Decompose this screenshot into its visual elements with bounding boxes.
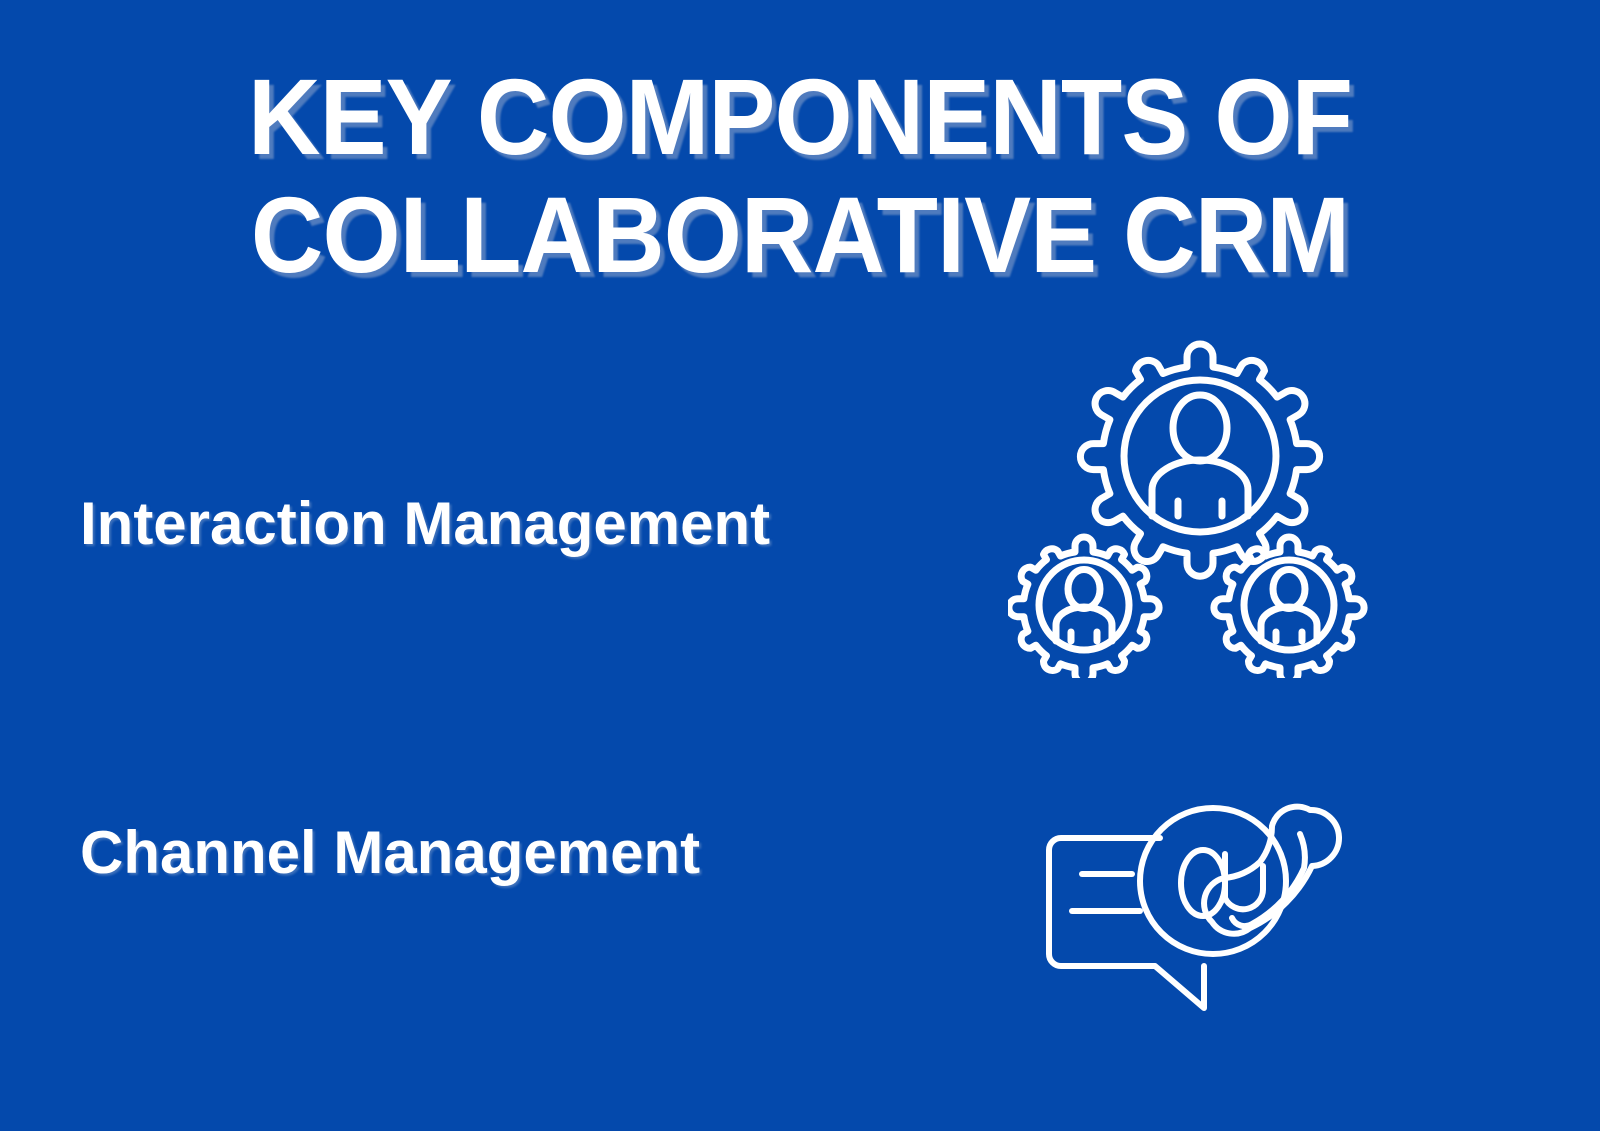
slide-canvas: KEY COMPONENTS OF COLLABORATIVE CRM Inte… bbox=[0, 0, 1600, 1131]
gears-with-people-icon bbox=[1008, 338, 1368, 678]
gear-small-right bbox=[1214, 537, 1364, 678]
title-line-2: COLLABORATIVE CRM bbox=[56, 176, 1544, 294]
person-body-small-left bbox=[1056, 607, 1112, 641]
component-label-channel-management: Channel Management bbox=[80, 818, 700, 888]
gear-large-inner-circle bbox=[1124, 380, 1276, 532]
chat-at-phone-icon bbox=[1008, 770, 1378, 1032]
page-title: KEY COMPONENTS OF COLLABORATIVE CRM bbox=[0, 58, 1600, 294]
person-body-small-right bbox=[1261, 607, 1317, 641]
speech-bubble-outline bbox=[1049, 838, 1204, 1008]
person-head-small-left bbox=[1068, 570, 1100, 609]
component-label-interaction-management: Interaction Management bbox=[80, 489, 770, 559]
person-body-large bbox=[1152, 460, 1248, 516]
person-head-small-right bbox=[1273, 570, 1305, 609]
title-line-1: KEY COMPONENTS OF bbox=[56, 58, 1544, 176]
person-head-large bbox=[1173, 395, 1227, 461]
